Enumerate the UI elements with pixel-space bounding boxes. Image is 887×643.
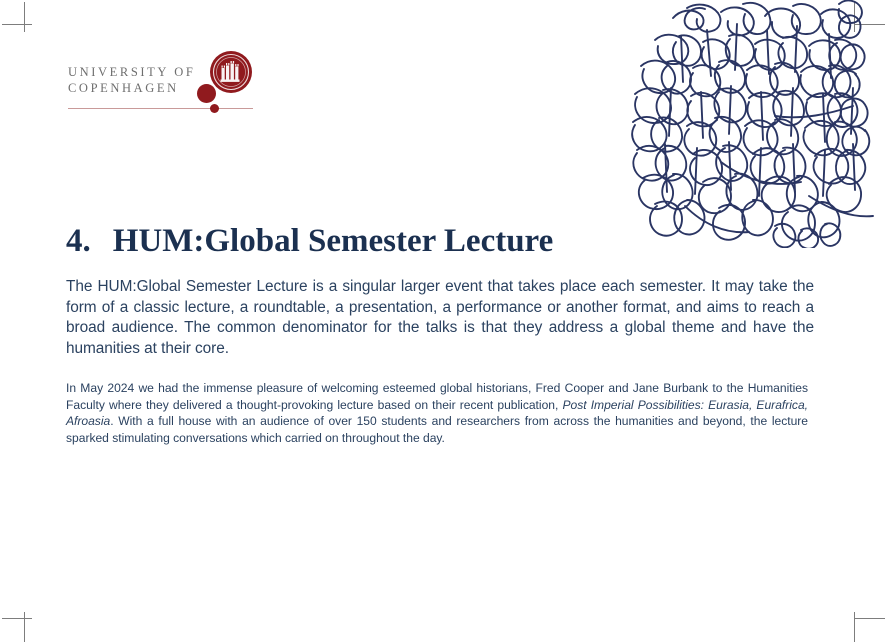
- section-number: 4.: [66, 223, 91, 259]
- abstract-tangled-line-artwork: [625, 0, 887, 248]
- crop-mark-top-right-horizontal: [855, 24, 885, 25]
- wordmark-line-1: UNIVERSITY OF: [68, 64, 195, 80]
- crop-mark-bottom-left-horizontal: [2, 618, 32, 619]
- intro-paragraph: The HUM:Global Semester Lecture is a sin…: [66, 277, 814, 359]
- detail-paragraph: In May 2024 we had the immense pleasure …: [66, 380, 808, 446]
- university-seal-icon: [209, 50, 253, 94]
- logo-rule: [68, 108, 253, 109]
- crop-mark-top-left-horizontal: [2, 24, 32, 25]
- page-title: 4.HUM:Global Semester Lecture: [66, 221, 553, 261]
- logo-accent-dot-small: [210, 104, 219, 113]
- crop-mark-bottom-right-vertical: [854, 612, 855, 642]
- logo-accent-dot-large: [197, 84, 216, 103]
- crop-mark-top-left-vertical: [24, 2, 25, 32]
- university-logo: UNIVERSITY OF COPENHAGEN: [68, 50, 253, 108]
- wordmark-line-2: COPENHAGEN: [68, 80, 195, 96]
- crop-mark-bottom-left-vertical: [24, 612, 25, 642]
- university-wordmark: UNIVERSITY OF COPENHAGEN: [68, 50, 195, 96]
- section-title: HUM:Global Semester Lecture: [113, 223, 554, 259]
- crop-mark-top-right-vertical: [854, 2, 855, 32]
- crop-mark-bottom-right-horizontal: [855, 618, 885, 619]
- detail-text-after: . With a full house with an audience of …: [66, 414, 808, 445]
